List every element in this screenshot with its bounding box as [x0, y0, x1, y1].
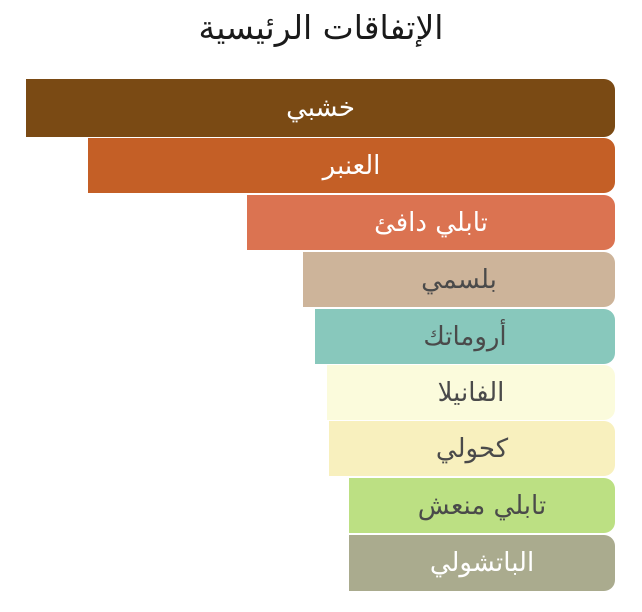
- funnel-bar[interactable]: تابلي منعش: [349, 478, 615, 533]
- funnel-bar-label: كحولي: [436, 434, 508, 464]
- funnel-bar[interactable]: تابلي دافئ: [247, 195, 615, 250]
- funnel-bar-label: خشبي: [286, 93, 355, 123]
- funnel-bar-label: الباتشولي: [430, 548, 534, 578]
- funnel-bar[interactable]: كحولي: [329, 421, 615, 476]
- funnel-bar[interactable]: العنبر: [88, 138, 615, 193]
- funnel-bar[interactable]: خشبي: [26, 79, 615, 137]
- funnel-bar[interactable]: الباتشولي: [349, 535, 615, 591]
- funnel-bar-label: تابلي منعش: [418, 491, 546, 521]
- funnel-bar-label: العنبر: [323, 151, 381, 181]
- funnel-chart: الإتفاقات الرئيسية خشبيالعنبرتابلي دافئب…: [0, 0, 642, 612]
- funnel-bar-label: بلسمي: [421, 265, 497, 295]
- funnel-bar-label: الفانيلا: [438, 378, 505, 408]
- funnel-bar[interactable]: أروماتك: [315, 309, 615, 364]
- funnel-bar-label: أروماتك: [423, 322, 506, 352]
- funnel-bar-label: تابلي دافئ: [374, 208, 488, 238]
- funnel-bars-container: خشبيالعنبرتابلي دافئبلسميأروماتكالفانيلا…: [0, 0, 642, 612]
- funnel-bar[interactable]: بلسمي: [303, 252, 615, 307]
- funnel-bar[interactable]: الفانيلا: [327, 365, 615, 420]
